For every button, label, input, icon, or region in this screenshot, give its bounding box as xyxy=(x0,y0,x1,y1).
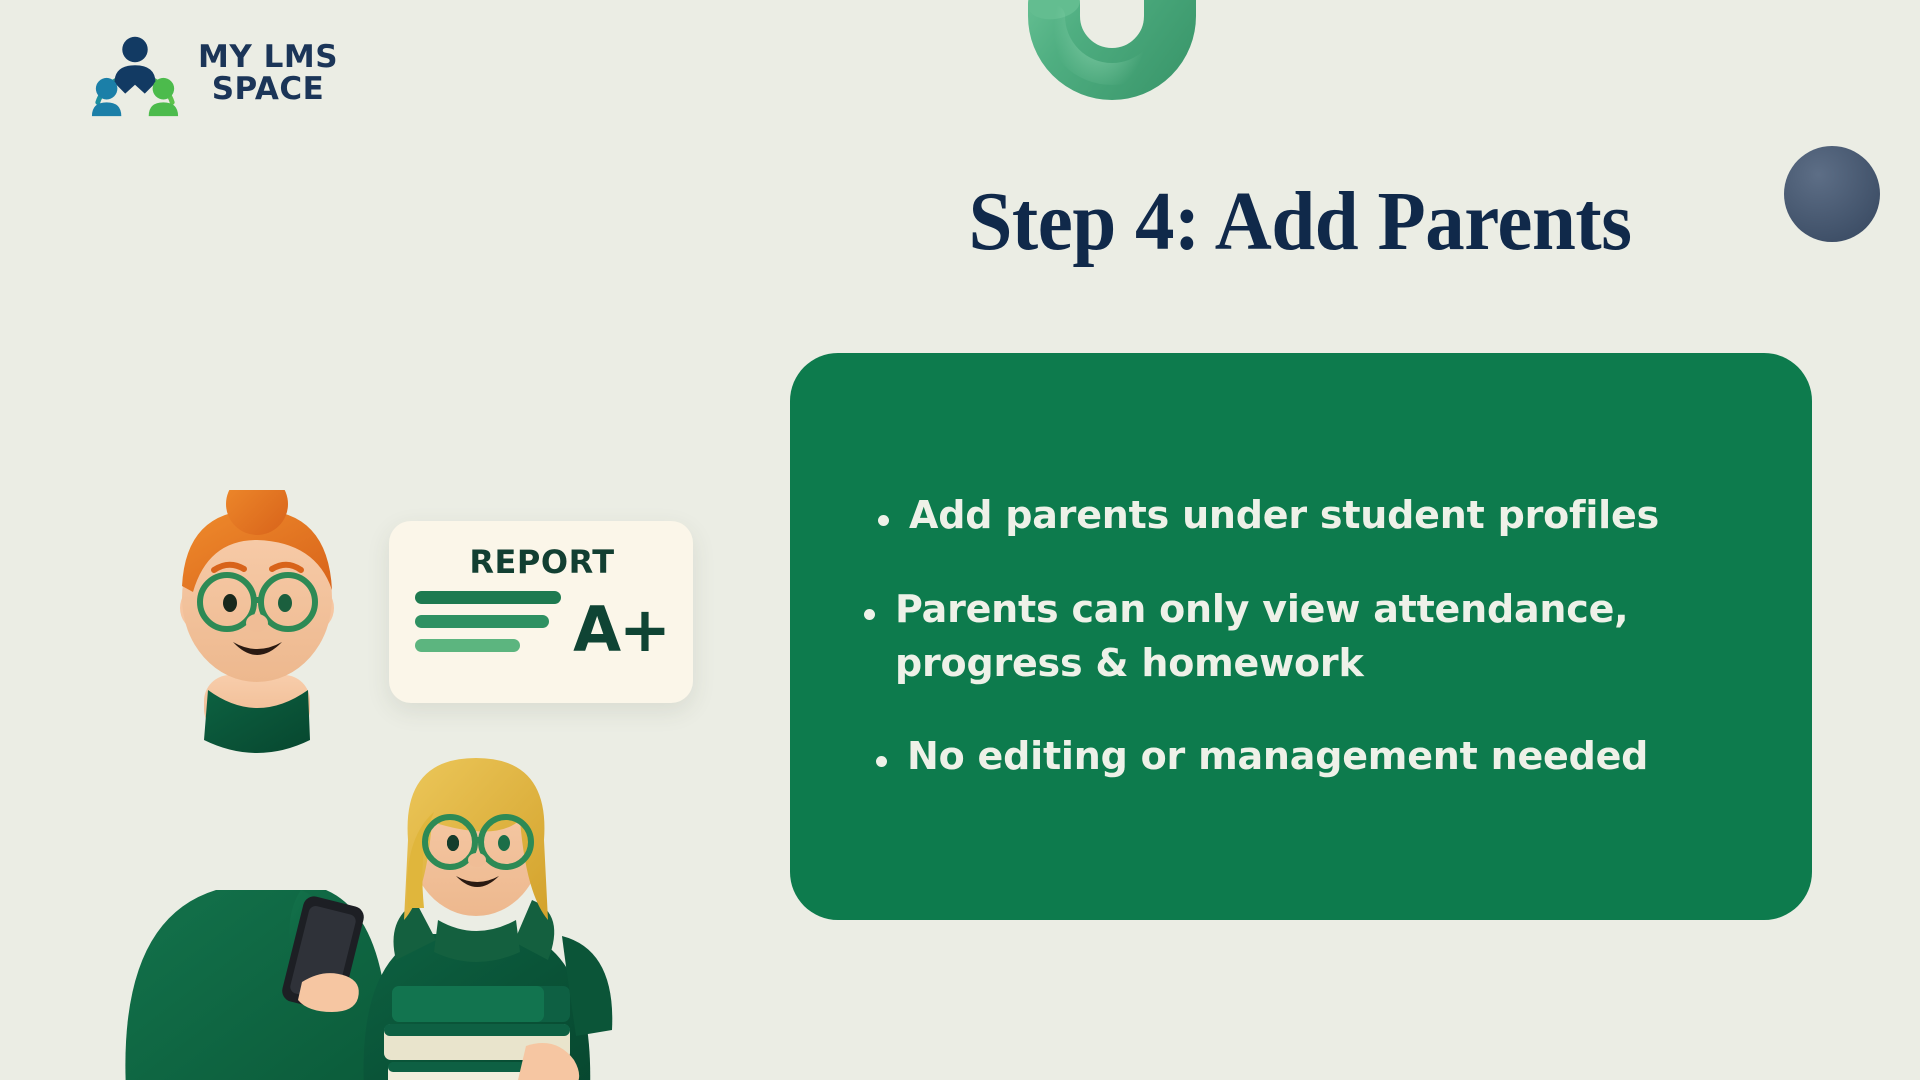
logo-wordmark: MY LMS SPACE xyxy=(198,42,338,105)
bullet-dot-icon xyxy=(878,515,889,526)
list-item: No editing or management needed xyxy=(864,730,1754,784)
navy-3d-sphere-icon xyxy=(1784,146,1880,242)
adult-character xyxy=(125,490,388,1080)
bullet-dot-icon xyxy=(876,756,887,767)
bullet-text: Add parents under student profiles xyxy=(909,489,1749,543)
page-title: Step 4: Add Parents xyxy=(868,178,1733,265)
logo-line-1: MY LMS xyxy=(198,42,338,74)
list-item: Parents can only view attendance, progre… xyxy=(864,583,1754,691)
bullet-text: Parents can only view attendance, progre… xyxy=(895,583,1735,691)
parent-and-student-3d-characters xyxy=(96,490,716,1080)
my-lms-space-logo[interactable]: MY LMS SPACE xyxy=(86,28,338,120)
logo-people-icon xyxy=(86,28,184,120)
bullet-list: Add parents under student profiles Paren… xyxy=(864,489,1754,785)
bullet-dot-icon xyxy=(864,609,875,620)
student-character xyxy=(364,758,613,1080)
bullet-text: No editing or management needed xyxy=(907,730,1747,784)
slide-canvas: MY LMS SPACE Step 4: Add Parents xyxy=(0,0,1920,1080)
content-card: Add parents under student profiles Paren… xyxy=(790,353,1812,920)
list-item: Add parents under student profiles xyxy=(864,489,1754,543)
logo-line-2: SPACE xyxy=(198,74,338,106)
green-3d-hook-icon xyxy=(1020,0,1250,134)
